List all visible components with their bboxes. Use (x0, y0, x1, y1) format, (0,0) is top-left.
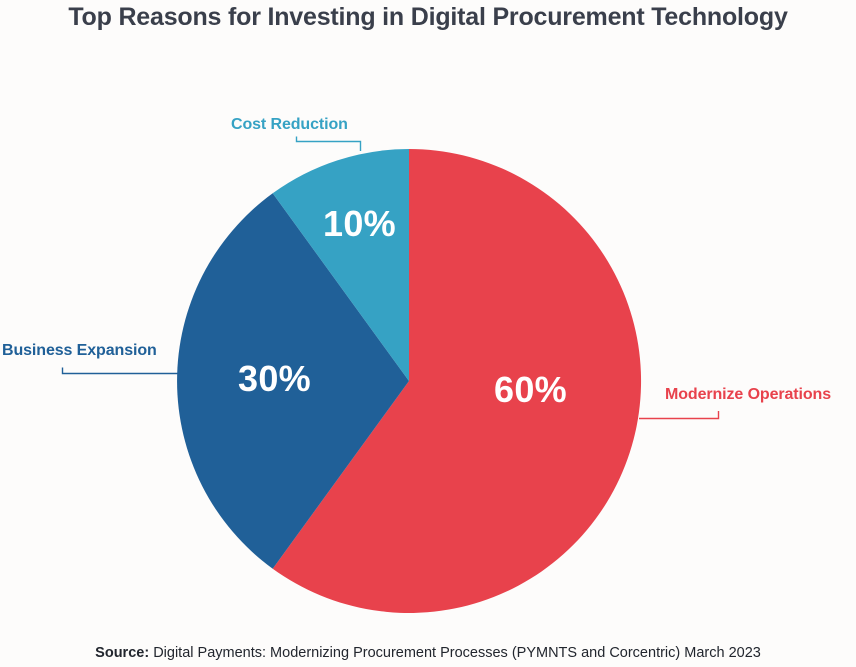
leader-line-cost-reduction (297, 137, 361, 152)
pie-chart-figure: Top Reasons for Investing in Digital Pro… (0, 0, 856, 667)
slice-value-modernize-operations: 60% (494, 369, 567, 411)
leader-line-business-expansion (63, 368, 182, 374)
pie-chart-canvas (0, 0, 856, 667)
slice-value-business-expansion: 30% (238, 358, 311, 400)
category-label-business-expansion[interactable]: Business Expansion (2, 342, 157, 360)
leader-line-modernize-operations (639, 411, 719, 419)
slice-value-cost-reduction: 10% (323, 203, 396, 245)
source-note: Source: Digital Payments: Modernizing Pr… (0, 645, 856, 661)
source-label: Source: (95, 645, 149, 661)
source-text: Digital Payments: Modernizing Procuremen… (149, 645, 761, 661)
category-label-modernize-operations[interactable]: Modernize Operations (665, 386, 831, 404)
category-label-cost-reduction[interactable]: Cost Reduction (231, 116, 348, 134)
